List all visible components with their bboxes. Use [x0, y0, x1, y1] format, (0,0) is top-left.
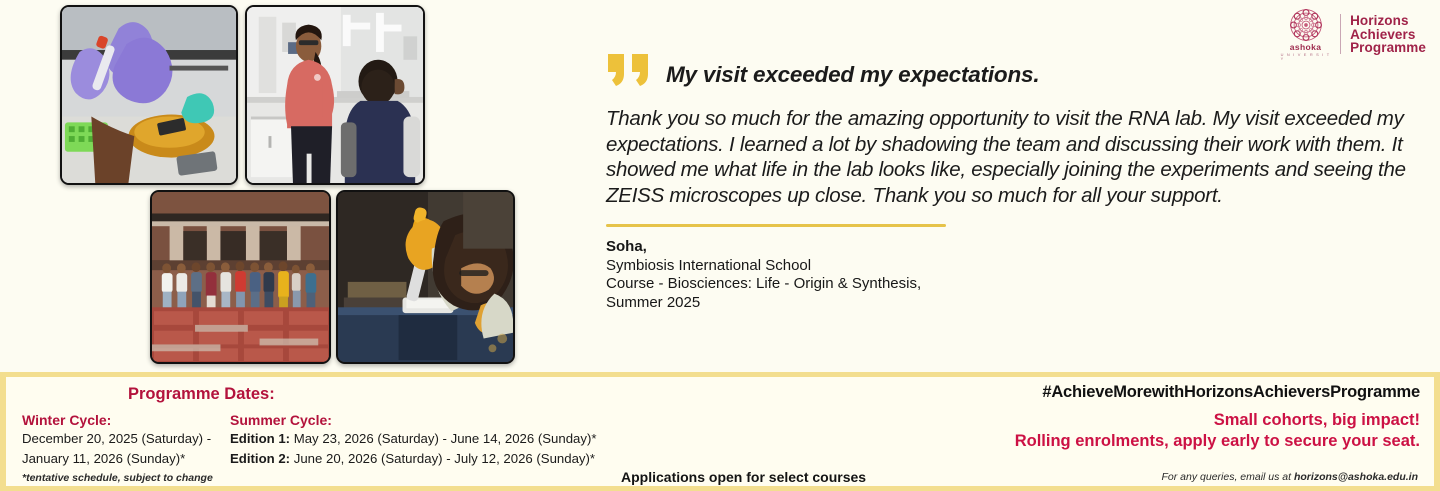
- testimonial-course: Course - Biosciences: Life - Origin & Sy…: [606, 275, 921, 292]
- photo-group-on-campus-steps-image: [152, 192, 329, 362]
- summer-cycle: Summer Cycle: Edition 1: May 23, 2026 (S…: [230, 412, 638, 467]
- testimonial-headline: My visit exceeded my expectations.: [666, 62, 1039, 88]
- photo-collage: [0, 0, 560, 372]
- applications-open-note: Applications open for select courses: [621, 469, 866, 485]
- photo-student-with-mentor-in-lab: [245, 5, 425, 185]
- contact-email-note: For any queries, email us at horizons@as…: [1162, 471, 1419, 483]
- winter-cycle-heading: Winter Cycle:: [22, 412, 230, 428]
- edition1-dates: May 23, 2026 (Saturday) - June 14, 2026 …: [290, 431, 596, 446]
- edition2-dates: June 20, 2026 (Saturday) - July 12, 2026…: [290, 451, 595, 466]
- edition2-label: Edition 2:: [230, 451, 290, 466]
- testimonial-divider: [606, 224, 946, 227]
- photo-student-using-micropipette-image: [338, 192, 513, 362]
- photo-student-with-mentor-in-lab-image: [247, 7, 423, 183]
- promo-line-2: Rolling enrolments, apply early to secur…: [1015, 431, 1420, 452]
- photo-gloved-hands-pipetting: [60, 5, 238, 185]
- promo-lines: Small cohorts, big impact! Rolling enrol…: [1015, 410, 1420, 452]
- testimonial-body: Thank you so much for the amazing opport…: [606, 106, 1432, 208]
- winter-cycle: Winter Cycle: December 20, 2025 (Saturda…: [18, 412, 230, 467]
- promo-block: #AchieveMorewithHorizonsAchieversProgram…: [1015, 383, 1420, 452]
- quotation-mark-icon: [606, 52, 652, 93]
- testimonial-term: Summer 2025: [606, 294, 700, 311]
- testimonial-author: Soha,: [606, 238, 1434, 257]
- summer-cycle-edition2: Edition 2: June 20, 2026 (Saturday) - Ju…: [230, 450, 638, 468]
- testimonial: My visit exceeded my expectations. Thank…: [606, 50, 1434, 312]
- photo-student-using-micropipette: [336, 190, 515, 364]
- ashoka-rosette-icon: [1289, 8, 1323, 42]
- contact-email-address[interactable]: horizons@ashoka.edu.in: [1294, 471, 1418, 483]
- programme-dates-block: Programme Dates: Winter Cycle: December …: [18, 383, 638, 467]
- photo-group-on-campus-steps: [150, 190, 331, 364]
- campaign-hashtag: #AchieveMorewithHorizonsAchieversProgram…: [1015, 383, 1420, 402]
- photo-gloved-hands-pipetting-image: [62, 7, 236, 183]
- winter-cycle-line1: December 20, 2025 (Saturday) -: [22, 430, 230, 448]
- programme-name: Horizons Achievers Programme: [1350, 14, 1426, 55]
- logo-divider: [1340, 14, 1342, 54]
- programme-dates-title: Programme Dates:: [128, 385, 638, 404]
- cycles-row: Winter Cycle: December 20, 2025 (Saturda…: [18, 412, 638, 467]
- programme-name-line1: Horizons: [1350, 14, 1426, 28]
- programme-name-line2: Achievers: [1350, 28, 1426, 42]
- testimonial-attribution: Soha, Symbiosis International School Cou…: [606, 238, 1434, 312]
- tentative-schedule-note: *tentative schedule, subject to change: [22, 472, 213, 484]
- winter-cycle-line2: January 11, 2026 (Sunday)*: [22, 450, 230, 468]
- contact-email-prefix: For any queries, email us at: [1162, 471, 1294, 483]
- summer-cycle-edition1: Edition 1: May 23, 2026 (Saturday) - Jun…: [230, 430, 638, 448]
- edition1-label: Edition 1:: [230, 431, 290, 446]
- summer-cycle-heading: Summer Cycle:: [230, 412, 638, 428]
- promo-line-1: Small cohorts, big impact!: [1015, 410, 1420, 431]
- bottom-banner: Programme Dates: Winter Cycle: December …: [0, 372, 1440, 491]
- testimonial-headline-row: My visit exceeded my expectations.: [606, 50, 1434, 93]
- testimonial-school: Symbiosis International School: [606, 257, 811, 274]
